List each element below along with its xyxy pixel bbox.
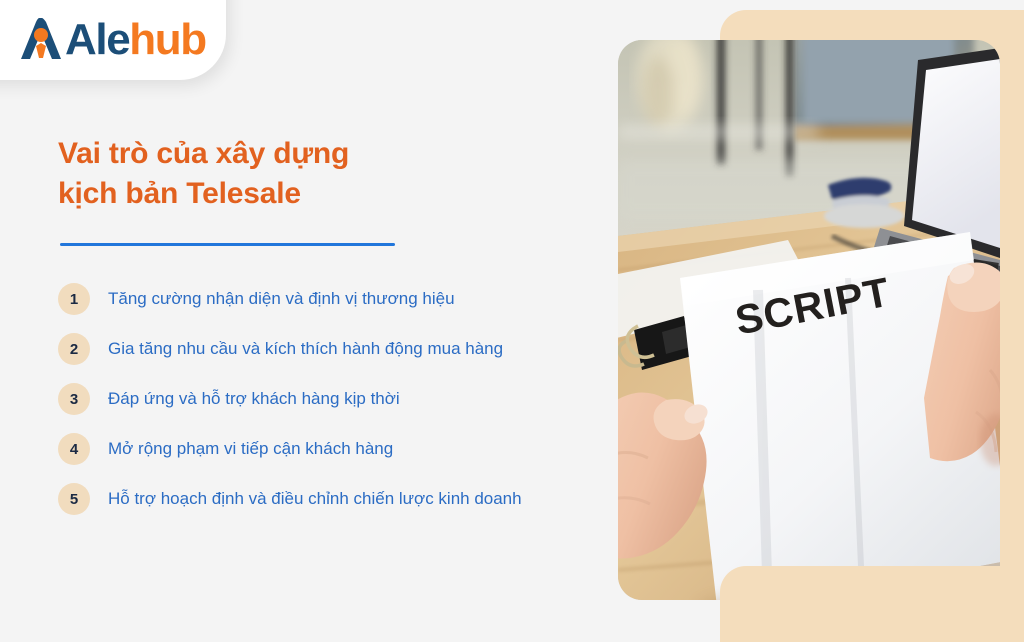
list-item-number-badge: 3	[58, 383, 90, 415]
accent-panel-lower	[720, 566, 1024, 642]
list-item: 4 Mở rộng phạm vi tiếp cận khách hàng	[58, 424, 598, 474]
brand-wordmark-dark: Ale	[65, 15, 129, 64]
brand-wordmark-orange: hub	[129, 15, 205, 64]
list-item: 2 Gia tăng nhu cầu và kích thích hành độ…	[58, 324, 598, 374]
brand-logo[interactable]: Alehub	[18, 18, 206, 62]
list-item-label: Hỗ trợ hoạch định và điều chỉnh chiến lư…	[108, 488, 522, 510]
list-item-label: Mở rộng phạm vi tiếp cận khách hàng	[108, 438, 393, 460]
benefits-list: 1 Tăng cường nhận diện và định vị thương…	[58, 274, 598, 524]
list-item: 3 Đáp ứng và hỗ trợ khách hàng kịp thời	[58, 374, 598, 424]
list-item-label: Gia tăng nhu cầu và kích thích hành động…	[108, 338, 503, 360]
list-item-number-badge: 5	[58, 483, 90, 515]
page-title: Vai trò của xây dựng kịch bản Telesale	[58, 134, 538, 214]
alehub-a-mark-icon	[18, 18, 64, 62]
list-item-number-badge: 1	[58, 283, 90, 315]
poster-canvas: SCRIPT Alehub Vai trò của xây dựng kịch …	[0, 0, 1024, 642]
list-item: 1 Tăng cường nhận diện và định vị thương…	[58, 274, 598, 324]
list-item-number-badge: 2	[58, 333, 90, 365]
title-divider	[60, 243, 395, 246]
list-item-label: Đáp ứng và hỗ trợ khách hàng kịp thời	[108, 388, 400, 410]
script-photo: SCRIPT	[618, 40, 1000, 600]
page-title-line-2: kịch bản Telesale	[58, 174, 538, 214]
list-item: 5 Hỗ trợ hoạch định và điều chỉnh chiến …	[58, 474, 598, 524]
list-item-number-badge: 4	[58, 433, 90, 465]
logo-card: Alehub	[0, 0, 226, 80]
list-item-label: Tăng cường nhận diện và định vị thương h…	[108, 288, 455, 310]
brand-wordmark: Alehub	[65, 18, 206, 62]
page-title-line-1: Vai trò của xây dựng	[58, 134, 538, 174]
